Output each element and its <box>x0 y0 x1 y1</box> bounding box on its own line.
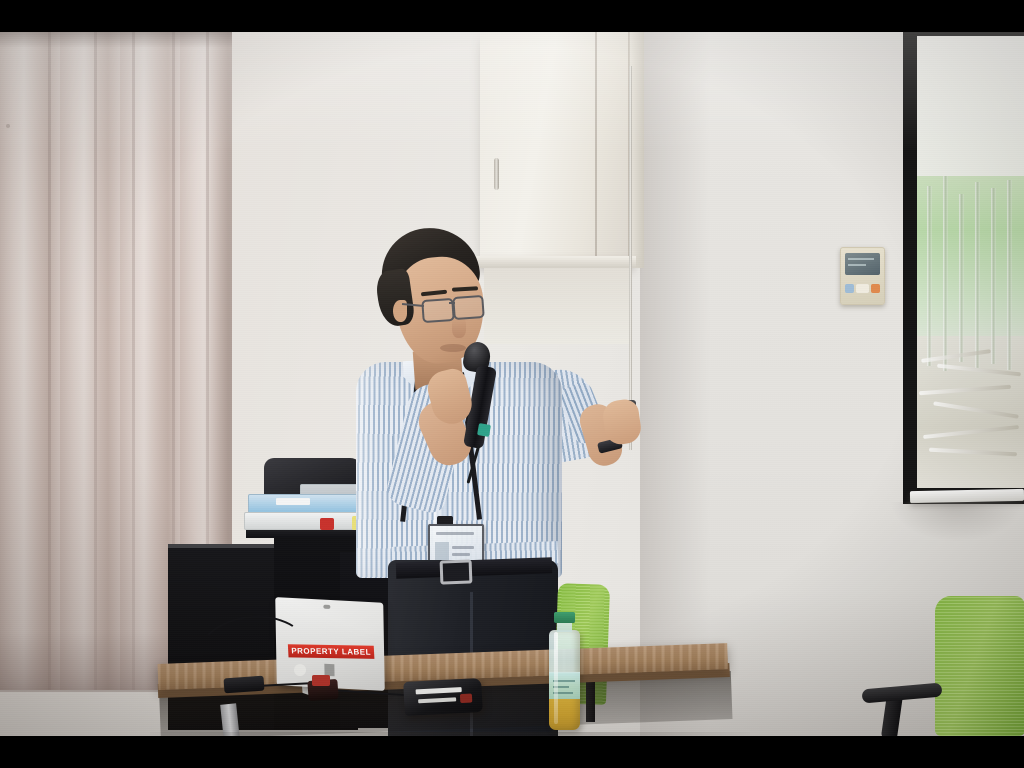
tablet-camera <box>323 605 330 609</box>
bottle-highlight <box>554 632 558 724</box>
eyeglasses-bridge <box>449 302 455 304</box>
green-chair-right[interactable] <box>935 596 1024 736</box>
photo-scene: PROPERTY LABEL Man <box>0 0 1024 768</box>
power-adapter-black <box>224 676 265 694</box>
presenter-mouth <box>440 344 466 352</box>
av-device-label-top <box>416 687 462 694</box>
badge-photo <box>435 542 449 560</box>
presenter-nose <box>452 316 466 338</box>
photograph: PROPERTY LABEL <box>0 32 1024 736</box>
letterbox-bar-bottom <box>0 736 1024 768</box>
av-device-indicator <box>460 693 472 703</box>
av-control-device[interactable] <box>403 678 483 716</box>
adapter-red-cap <box>312 675 330 686</box>
av-device-label-bottom <box>418 697 456 703</box>
presenter <box>0 32 1024 736</box>
bottle-cap[interactable] <box>554 612 575 623</box>
letterbox-bar-top <box>0 0 1024 32</box>
microphone-label <box>477 423 491 437</box>
belt-buckle <box>440 559 473 584</box>
adapter-white-plug <box>294 664 306 676</box>
